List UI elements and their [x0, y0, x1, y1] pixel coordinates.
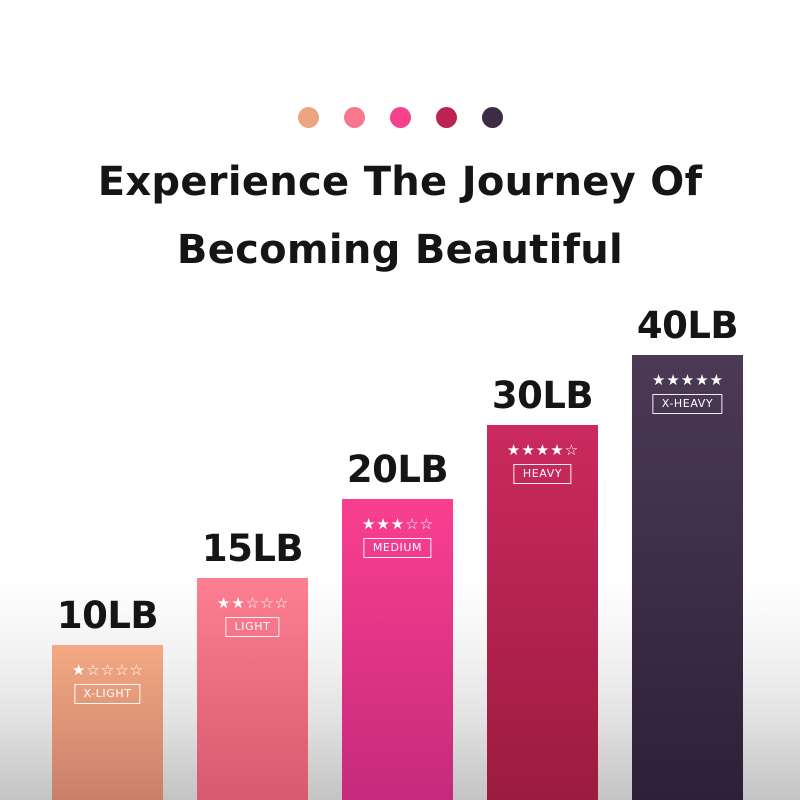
star-filled-icon: ★ — [681, 373, 694, 388]
star-empty-icon: ☆ — [420, 517, 433, 532]
star-empty-icon: ☆ — [246, 596, 259, 611]
bar-group-20lb[interactable]: 20LB★★★☆☆MEDIUM — [342, 499, 453, 800]
bar-group-15lb[interactable]: 15LB★★☆☆☆LIGHT — [197, 578, 308, 800]
bar-weight-label-15lb: 15LB — [202, 527, 303, 570]
star-empty-icon: ☆ — [565, 443, 578, 458]
star-rating-40lb: ★★★★★ — [652, 373, 723, 388]
star-filled-icon: ★ — [217, 596, 230, 611]
resistance-bar-chart: 10LB★☆☆☆☆X-LIGHT15LB★★☆☆☆LIGHT20LB★★★☆☆M… — [0, 0, 800, 800]
star-filled-icon: ★ — [536, 443, 549, 458]
star-filled-icon: ★ — [391, 517, 404, 532]
star-empty-icon: ☆ — [260, 596, 273, 611]
star-filled-icon: ★ — [550, 443, 563, 458]
star-filled-icon: ★ — [652, 373, 665, 388]
resistance-band-infographic: Experience The Journey Of Becoming Beaut… — [0, 0, 800, 800]
bar-weight-label-40lb: 40LB — [637, 304, 738, 347]
bar-tag-30lb: HEAVY — [514, 464, 571, 484]
bar-weight-label-20lb: 20LB — [347, 448, 448, 491]
star-filled-icon: ★ — [521, 443, 534, 458]
star-rating-10lb: ★☆☆☆☆ — [72, 663, 143, 678]
bar-group-10lb[interactable]: 10LB★☆☆☆☆X-LIGHT — [52, 645, 163, 800]
bar-tag-15lb: LIGHT — [226, 617, 280, 637]
bar-40lb[interactable] — [632, 355, 743, 800]
star-empty-icon: ☆ — [130, 663, 143, 678]
star-filled-icon: ★ — [231, 596, 244, 611]
bar-group-30lb[interactable]: 30LB★★★★☆HEAVY — [487, 425, 598, 800]
bar-badge-30lb: ★★★★☆HEAVY — [507, 443, 578, 484]
star-filled-icon: ★ — [710, 373, 723, 388]
star-rating-20lb: ★★★☆☆ — [362, 517, 433, 532]
star-filled-icon: ★ — [507, 443, 520, 458]
star-filled-icon: ★ — [666, 373, 679, 388]
bar-weight-label-10lb: 10LB — [57, 594, 158, 637]
star-filled-icon: ★ — [72, 663, 85, 678]
bar-badge-40lb: ★★★★★X-HEAVY — [652, 373, 723, 414]
star-empty-icon: ☆ — [405, 517, 418, 532]
star-filled-icon: ★ — [362, 517, 375, 532]
bar-badge-20lb: ★★★☆☆MEDIUM — [362, 517, 433, 558]
star-filled-icon: ★ — [376, 517, 389, 532]
bar-badge-15lb: ★★☆☆☆LIGHT — [217, 596, 288, 637]
bar-badge-10lb: ★☆☆☆☆X-LIGHT — [72, 663, 143, 704]
star-empty-icon: ☆ — [115, 663, 128, 678]
bar-tag-40lb: X-HEAVY — [653, 394, 722, 414]
bar-tag-10lb: X-LIGHT — [74, 684, 140, 704]
star-filled-icon: ★ — [695, 373, 708, 388]
star-empty-icon: ☆ — [86, 663, 99, 678]
star-rating-30lb: ★★★★☆ — [507, 443, 578, 458]
bar-group-40lb[interactable]: 40LB★★★★★X-HEAVY — [632, 355, 743, 800]
star-empty-icon: ☆ — [275, 596, 288, 611]
bar-tag-20lb: MEDIUM — [364, 538, 431, 558]
bar-weight-label-30lb: 30LB — [492, 374, 593, 417]
star-empty-icon: ☆ — [101, 663, 114, 678]
star-rating-15lb: ★★☆☆☆ — [217, 596, 288, 611]
